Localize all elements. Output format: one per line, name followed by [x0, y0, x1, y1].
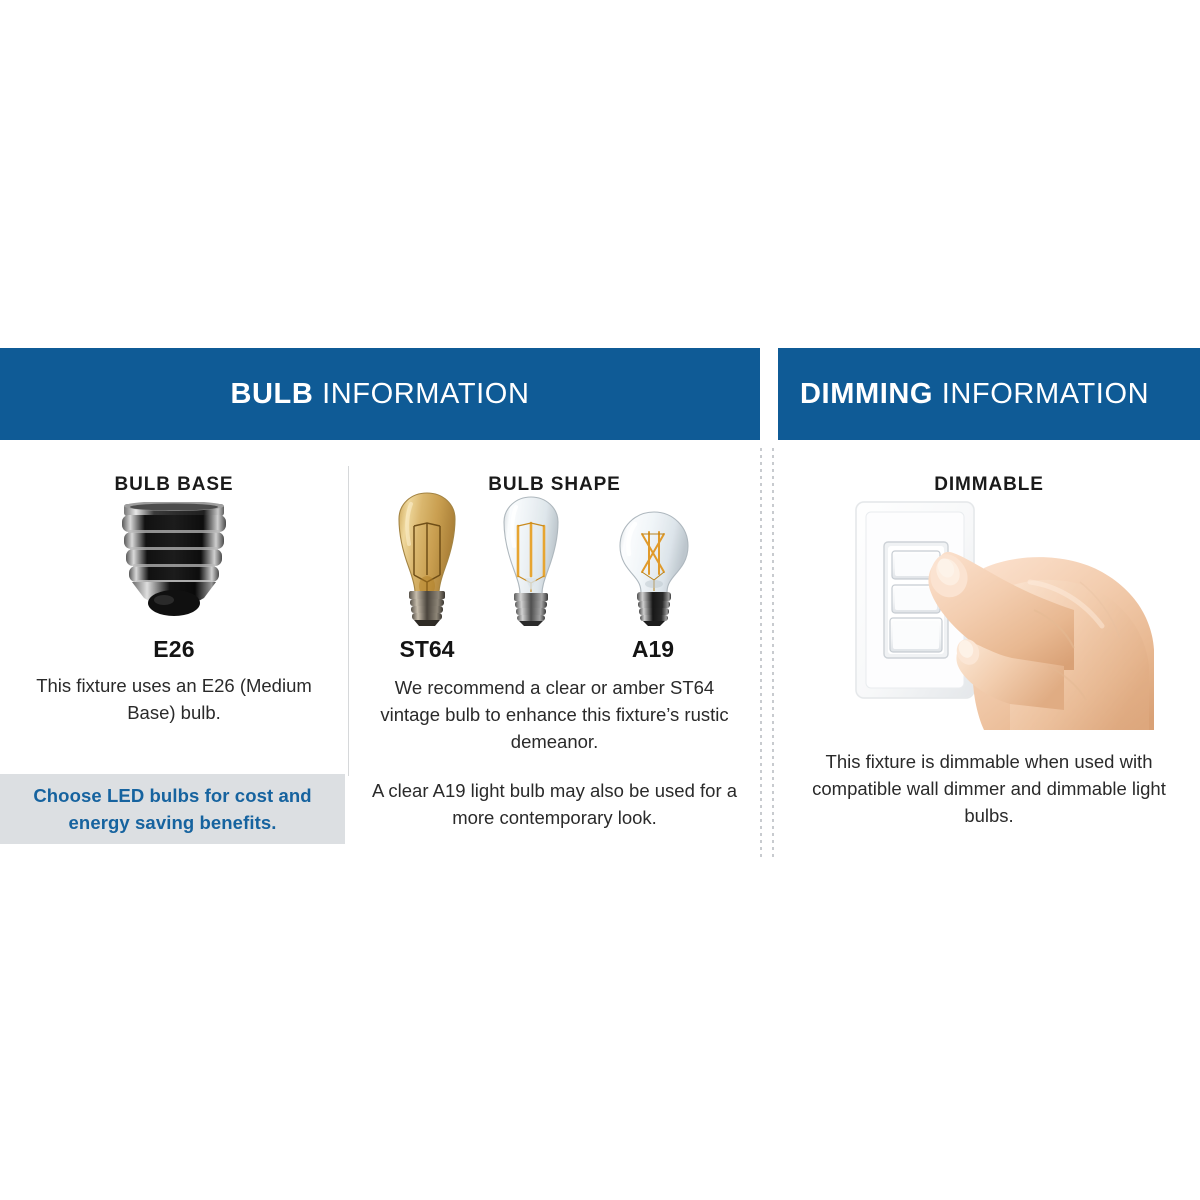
bulb-base-description: This fixture uses an E26 (Medium Base) b…: [28, 672, 320, 726]
e26-medium-base-icon: [118, 502, 230, 620]
bulb-shape-label-row: ST64 A19: [349, 636, 760, 666]
led-recommendation-banner: Choose LED bulbs for cost and energy sav…: [0, 774, 345, 844]
st64-label: ST64: [377, 636, 477, 663]
bulb-shape-column: BULB SHAPE: [349, 440, 760, 496]
dimmable-copy-wrap: This fixture is dimmable when used with …: [778, 748, 1200, 829]
bulb-information-header-text: BULB INFORMATION: [230, 378, 529, 411]
a19-clear-bulb-icon: [613, 510, 695, 628]
dimmable-description: This fixture is dimmable when used with …: [812, 748, 1166, 829]
wall-dimmer-with-hand-icon: [834, 490, 1154, 730]
panels-dotted-divider-right: [772, 448, 774, 860]
dimming-header-bold-word: DIMMING: [800, 378, 933, 410]
bulb-base-spec-wrap: E26: [0, 636, 348, 663]
st64-clear-bulb-icon: [487, 494, 575, 628]
bulb-information-panel: BULB BASE: [0, 440, 760, 870]
bulb-shape-images: [349, 488, 760, 628]
st64-amber-bulb-icon: [381, 490, 473, 628]
dimmable-column: DIMMABLE: [778, 440, 1200, 496]
dimming-information-panel: DIMMABLE: [778, 440, 1200, 870]
bulb-header-rest-word: INFORMATION: [313, 378, 529, 410]
led-recommendation-text: Choose LED bulbs for cost and energy sav…: [0, 782, 345, 836]
bulb-header-bold-word: BULB: [230, 378, 313, 410]
bulb-base-spec-label: E26: [0, 636, 348, 663]
panels-dotted-divider-left: [760, 448, 762, 860]
bulb-base-copy-wrap: This fixture uses an E26 (Medium Base) b…: [0, 672, 348, 726]
dimming-header-rest-word: INFORMATION: [933, 378, 1149, 410]
bulb-shape-description-primary: We recommend a clear or amber ST64 vinta…: [371, 674, 738, 755]
dimming-information-header: DIMMING INFORMATION: [778, 348, 1200, 440]
dimming-information-header-text: DIMMING INFORMATION: [800, 378, 1149, 411]
bulb-shape-copy-wrap: We recommend a clear or amber ST64 vinta…: [349, 674, 760, 831]
bulb-base-title: BULB BASE: [0, 474, 348, 496]
bulb-information-header: BULB INFORMATION: [0, 348, 760, 440]
bulb-shape-description-secondary: A clear A19 light bulb may also be used …: [371, 777, 738, 831]
bulb-base-column: BULB BASE: [0, 440, 348, 496]
infographic-page: BULB INFORMATION DIMMING INFORMATION BUL…: [0, 0, 1200, 1200]
a19-label: A19: [603, 636, 703, 663]
